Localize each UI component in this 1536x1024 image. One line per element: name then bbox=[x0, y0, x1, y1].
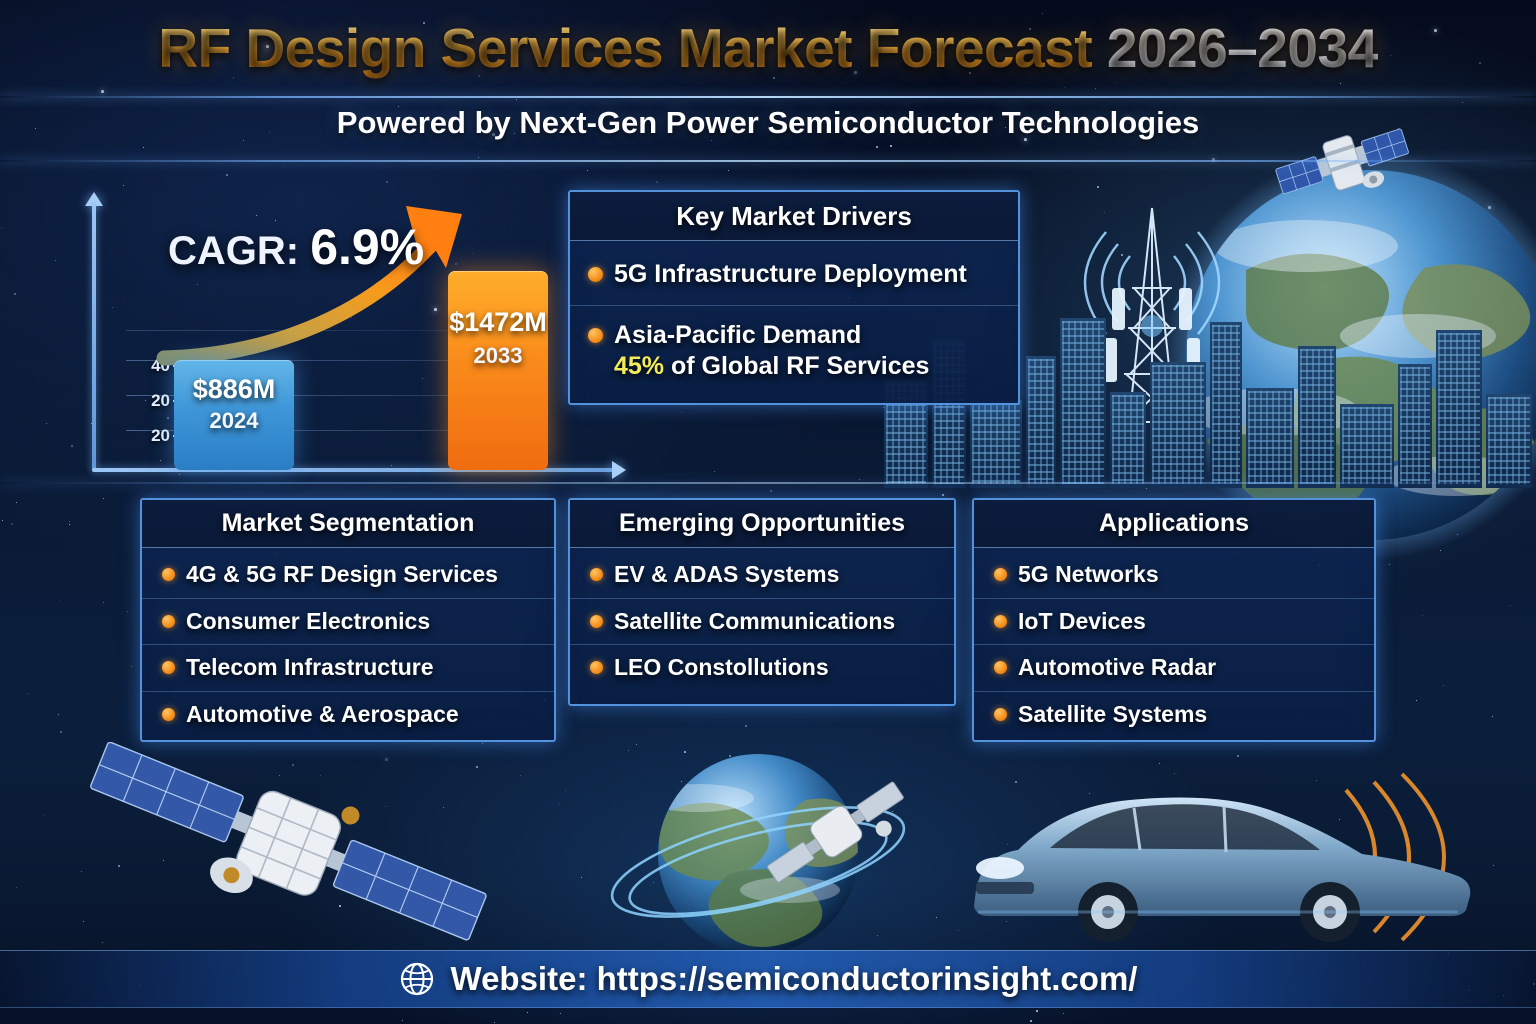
y-tick-label: 20 bbox=[151, 426, 170, 446]
title-year-range: 2026–2034 bbox=[1107, 17, 1378, 79]
bullet-dot-icon bbox=[162, 661, 175, 674]
driver-text: 5G Infrastructure Deployment bbox=[614, 259, 967, 291]
driver-line1: Asia-Pacific Demand bbox=[614, 321, 861, 349]
list-item[interactable]: Automotive & Aerospace bbox=[142, 692, 554, 738]
list-item[interactable]: Satellite Communications bbox=[570, 599, 954, 646]
y-tick-label: 40 bbox=[151, 356, 170, 376]
list-item[interactable]: EV & ADAS Systems bbox=[570, 552, 954, 599]
x-axis-arrow-icon bbox=[612, 461, 626, 479]
bullet-dot-icon bbox=[590, 568, 603, 581]
market-forecast-chart: 40 20 20 $886M 2024 $1472M 2033 bbox=[66, 190, 626, 490]
panel-body: EV & ADAS Systems Satellite Communicatio… bbox=[570, 548, 954, 691]
bullet-dot-icon bbox=[162, 568, 175, 581]
application-text: IoT Devices bbox=[1018, 608, 1146, 636]
applications-panel: Applications 5G Networks IoT Devices Aut… bbox=[972, 498, 1376, 742]
emerging-opportunities-panel: Emerging Opportunities EV & ADAS Systems… bbox=[568, 498, 956, 706]
bullet-dot-icon bbox=[590, 661, 603, 674]
website-text[interactable]: Website: https://semiconductorinsight.co… bbox=[451, 960, 1138, 998]
panel-body: 5G Infrastructure Deployment Asia-Pacifi… bbox=[570, 241, 1018, 397]
cagr-annotation: CAGR: 6.9% bbox=[168, 218, 424, 276]
divider-top bbox=[0, 96, 1536, 98]
divider-under-subtitle bbox=[0, 160, 1536, 162]
footer-bar: Website: https://semiconductorinsight.co… bbox=[0, 950, 1536, 1008]
bullet-dot-icon bbox=[994, 708, 1007, 721]
satellite-icon bbox=[78, 742, 498, 942]
header: RF Design Services Market Forecast 2026–… bbox=[0, 16, 1536, 80]
list-item[interactable]: Satellite Systems bbox=[974, 692, 1374, 738]
cagr-label: CAGR: bbox=[168, 229, 299, 273]
electric-car bbox=[958, 772, 1478, 942]
list-item[interactable]: Automotive Radar bbox=[974, 645, 1374, 692]
bar-value-label: $1472M bbox=[448, 307, 548, 338]
application-text: Automotive Radar bbox=[1018, 654, 1216, 682]
segment-text: Consumer Electronics bbox=[186, 608, 430, 636]
segment-text: Automotive & Aerospace bbox=[186, 701, 459, 729]
application-text: 5G Networks bbox=[1018, 561, 1159, 589]
globe-icon bbox=[399, 961, 435, 997]
bullet-dot-icon bbox=[588, 328, 603, 343]
segment-text: 4G & 5G RF Design Services bbox=[186, 561, 498, 589]
radar-waves bbox=[1340, 772, 1536, 942]
panel-heading: Emerging Opportunities bbox=[570, 500, 954, 548]
list-item[interactable]: Consumer Electronics bbox=[142, 599, 554, 646]
title-gold-part: RF Design Services Market Forecast bbox=[158, 17, 1092, 79]
list-item[interactable]: Telecom Infrastructure bbox=[142, 645, 554, 692]
bar-category-label: 2033 bbox=[448, 343, 548, 369]
cell-tower-icon bbox=[1052, 178, 1252, 478]
key-market-drivers-panel: Key Market Drivers 5G Infrastructure Dep… bbox=[568, 190, 1020, 405]
bar-value-label: $886M bbox=[174, 374, 294, 405]
page-title: RF Design Services Market Forecast 2026–… bbox=[158, 16, 1377, 80]
driver-highlight: 45% bbox=[614, 352, 664, 380]
list-item[interactable]: 5G Networks bbox=[974, 552, 1374, 599]
list-item[interactable]: 5G Infrastructure Deployment bbox=[570, 245, 1018, 306]
bullet-dot-icon bbox=[162, 708, 175, 721]
earth-globe bbox=[600, 746, 920, 956]
opportunity-text: Satellite Communications bbox=[614, 608, 895, 636]
bullet-dot-icon bbox=[588, 267, 603, 282]
panel-heading: Key Market Drivers bbox=[570, 192, 1018, 241]
bar-category-label: 2024 bbox=[174, 408, 294, 434]
satellite-icon bbox=[756, 778, 916, 888]
bar-2033: $1472M 2033 bbox=[448, 271, 548, 470]
panel-body: 4G & 5G RF Design Services Consumer Elec… bbox=[142, 548, 554, 737]
list-item[interactable]: IoT Devices bbox=[974, 599, 1374, 646]
application-text: Satellite Systems bbox=[1018, 701, 1207, 729]
driver-text: Asia-Pacific Demand 45% of Global RF Ser… bbox=[614, 320, 929, 383]
list-item[interactable]: LEO Constollutions bbox=[570, 645, 954, 691]
bullet-dot-icon bbox=[994, 615, 1007, 628]
list-item[interactable]: Asia-Pacific Demand 45% of Global RF Ser… bbox=[570, 306, 1018, 397]
bar-2024: $886M 2024 bbox=[174, 360, 294, 470]
infographic-canvas: RF Design Services Market Forecast 2026–… bbox=[0, 0, 1536, 1024]
market-segmentation-panel: Market Segmentation 4G & 5G RF Design Se… bbox=[140, 498, 556, 742]
panel-heading: Applications bbox=[974, 500, 1374, 548]
segment-text: Telecom Infrastructure bbox=[186, 654, 434, 682]
driver-line2: of Global RF Services bbox=[664, 352, 929, 380]
bullet-dot-icon bbox=[590, 615, 603, 628]
bullet-dot-icon bbox=[994, 661, 1007, 674]
y-tick-label: 20 bbox=[151, 391, 170, 411]
panel-heading: Market Segmentation bbox=[142, 500, 554, 548]
opportunity-text: EV & ADAS Systems bbox=[614, 561, 839, 589]
opportunity-text: LEO Constollutions bbox=[614, 654, 829, 682]
list-item[interactable]: 4G & 5G RF Design Services bbox=[142, 552, 554, 599]
bullet-dot-icon bbox=[994, 568, 1007, 581]
panel-body: 5G Networks IoT Devices Automotive Radar… bbox=[974, 548, 1374, 737]
page-subtitle: Powered by Next-Gen Power Semiconductor … bbox=[0, 105, 1536, 141]
y-axis-line bbox=[92, 202, 96, 470]
cagr-value: 6.9% bbox=[310, 219, 424, 275]
bullet-dot-icon bbox=[162, 615, 175, 628]
